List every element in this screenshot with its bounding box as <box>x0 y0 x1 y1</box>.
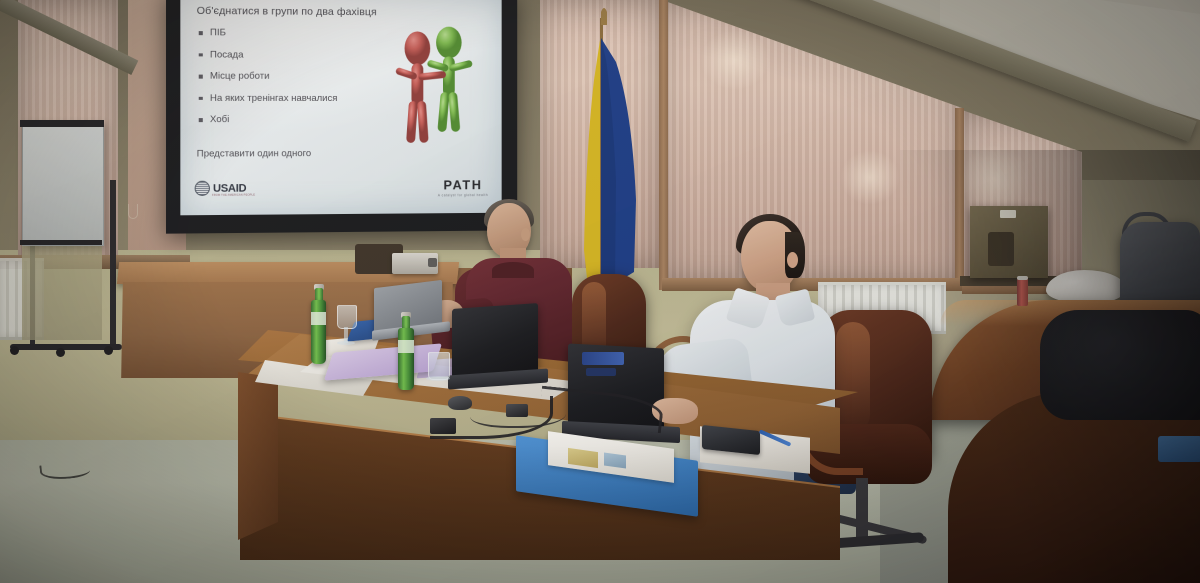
caster-wheel <box>104 346 113 355</box>
slide-bullet: ПІБ <box>199 27 410 39</box>
participant-ear <box>787 252 798 268</box>
conference-room-photo: Об'єднатися в групи по два фахівця ПІБ П… <box>0 0 1200 583</box>
slide-footnote: Представити один одного <box>197 148 311 159</box>
drinking-glass-left <box>337 305 357 329</box>
laptop-sticker <box>586 368 616 376</box>
usaid-seal-icon <box>195 181 210 196</box>
bottle-label <box>311 312 326 325</box>
flipchart-board <box>22 122 104 246</box>
slide-title: Об'єднатися в групи по два фахівця <box>197 5 377 18</box>
laptop-sticker <box>582 352 624 365</box>
wall-hook <box>128 204 138 219</box>
usaid-tagline: FROM THE AMERICAN PEOPLE <box>212 194 255 197</box>
drink-can-top <box>1017 276 1028 280</box>
glass-foot <box>337 341 355 345</box>
path-tagline: A catalyst for global health <box>438 193 488 197</box>
chair-highlight <box>836 322 870 432</box>
slide-bullet: Хобі <box>199 114 410 125</box>
two-figures-handshake-icon <box>388 22 486 150</box>
slide-bullet: Місце роботи <box>199 71 410 83</box>
projector-lens-icon <box>428 258 437 267</box>
blue-item <box>1158 436 1200 462</box>
caster-wheel <box>10 346 19 355</box>
slide-bullet: Посада <box>199 49 410 61</box>
presenter-ear <box>521 228 530 241</box>
projection-screen: Об'єднатися в групи по два фахівця ПІБ П… <box>166 0 517 234</box>
bottle-label <box>398 340 414 353</box>
water-bottle-right <box>398 328 414 390</box>
flipchart-tray <box>20 240 102 245</box>
presentation-slide: Об'єднатися в групи по два фахівця ПІБ П… <box>180 0 501 215</box>
computer-mouse <box>448 396 472 410</box>
presenter-collar <box>492 262 534 278</box>
path-wordmark: PATH <box>438 177 488 192</box>
flipchart-lower-panel <box>22 244 102 340</box>
storage-box-label <box>1000 210 1016 218</box>
storage-box-detail <box>988 232 1014 266</box>
dark-coat-bag <box>1040 310 1200 420</box>
chair-gas-cylinder <box>856 478 868 540</box>
conference-table-left-end <box>238 372 278 542</box>
power-adapter <box>430 418 456 434</box>
slide-bullet: На яких тренінгах навчалися <box>199 92 410 103</box>
flipchart-leg <box>110 180 116 348</box>
caster-wheel <box>56 348 65 357</box>
pillow <box>1046 270 1126 304</box>
flipchart-clip <box>20 120 104 127</box>
laptop-black-center <box>452 303 538 379</box>
usaid-wordmark: USAID <box>213 182 246 194</box>
glass-foot <box>426 376 450 381</box>
path-logo: PATH A catalyst for global health <box>438 177 488 197</box>
ukrainian-flag <box>560 0 680 300</box>
slide-bullet-list: ПІБ Посада Місце роботи На яких тренінга… <box>199 27 410 136</box>
power-adapter <box>506 404 528 417</box>
drink-can <box>1017 278 1028 306</box>
water-bottle-left <box>311 300 326 364</box>
window-mullion <box>955 108 964 288</box>
